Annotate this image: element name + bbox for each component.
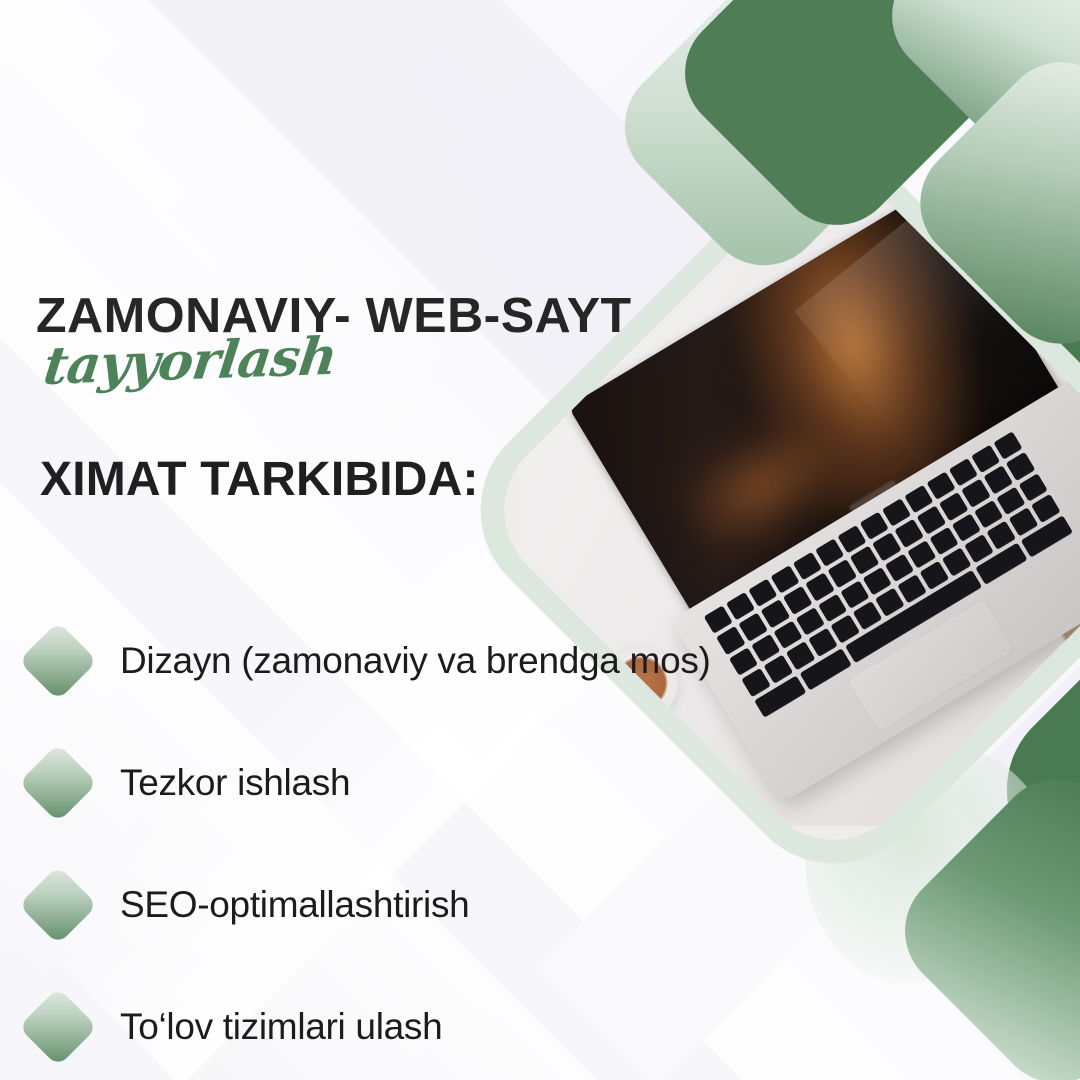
list-item: To‘lov tizimlari ulash [22,966,922,1080]
poster-canvas: ZAMONAVIY- WEB-SAYT tayyorlash XIMAT TAR… [0,0,1080,1080]
list-item-label: Tezkor ishlash [120,762,350,804]
list-item-label: To‘lov tizimlari ulash [120,1006,442,1048]
section-heading: XIMAT TARKIBIDA: [40,452,479,507]
diamond-bullet-icon [18,743,97,822]
diamond-bullet-icon [18,621,97,700]
diamond-bullet-icon [18,865,97,944]
list-item-label: Dizayn (zamonaviy va brendga mos) [120,640,711,682]
list-item: SEO-optimallashtirish [22,844,922,966]
script-subtitle: tayyorlash [40,326,340,397]
list-item: Tezkor ishlash [22,722,922,844]
list-item: Dizayn (zamonaviy va brendga mos) [22,600,922,722]
diamond-bullet-icon [18,987,97,1066]
service-list: Dizayn (zamonaviy va brendga mos) Tezkor… [22,600,922,1080]
list-item-label: SEO-optimallashtirish [120,884,469,926]
